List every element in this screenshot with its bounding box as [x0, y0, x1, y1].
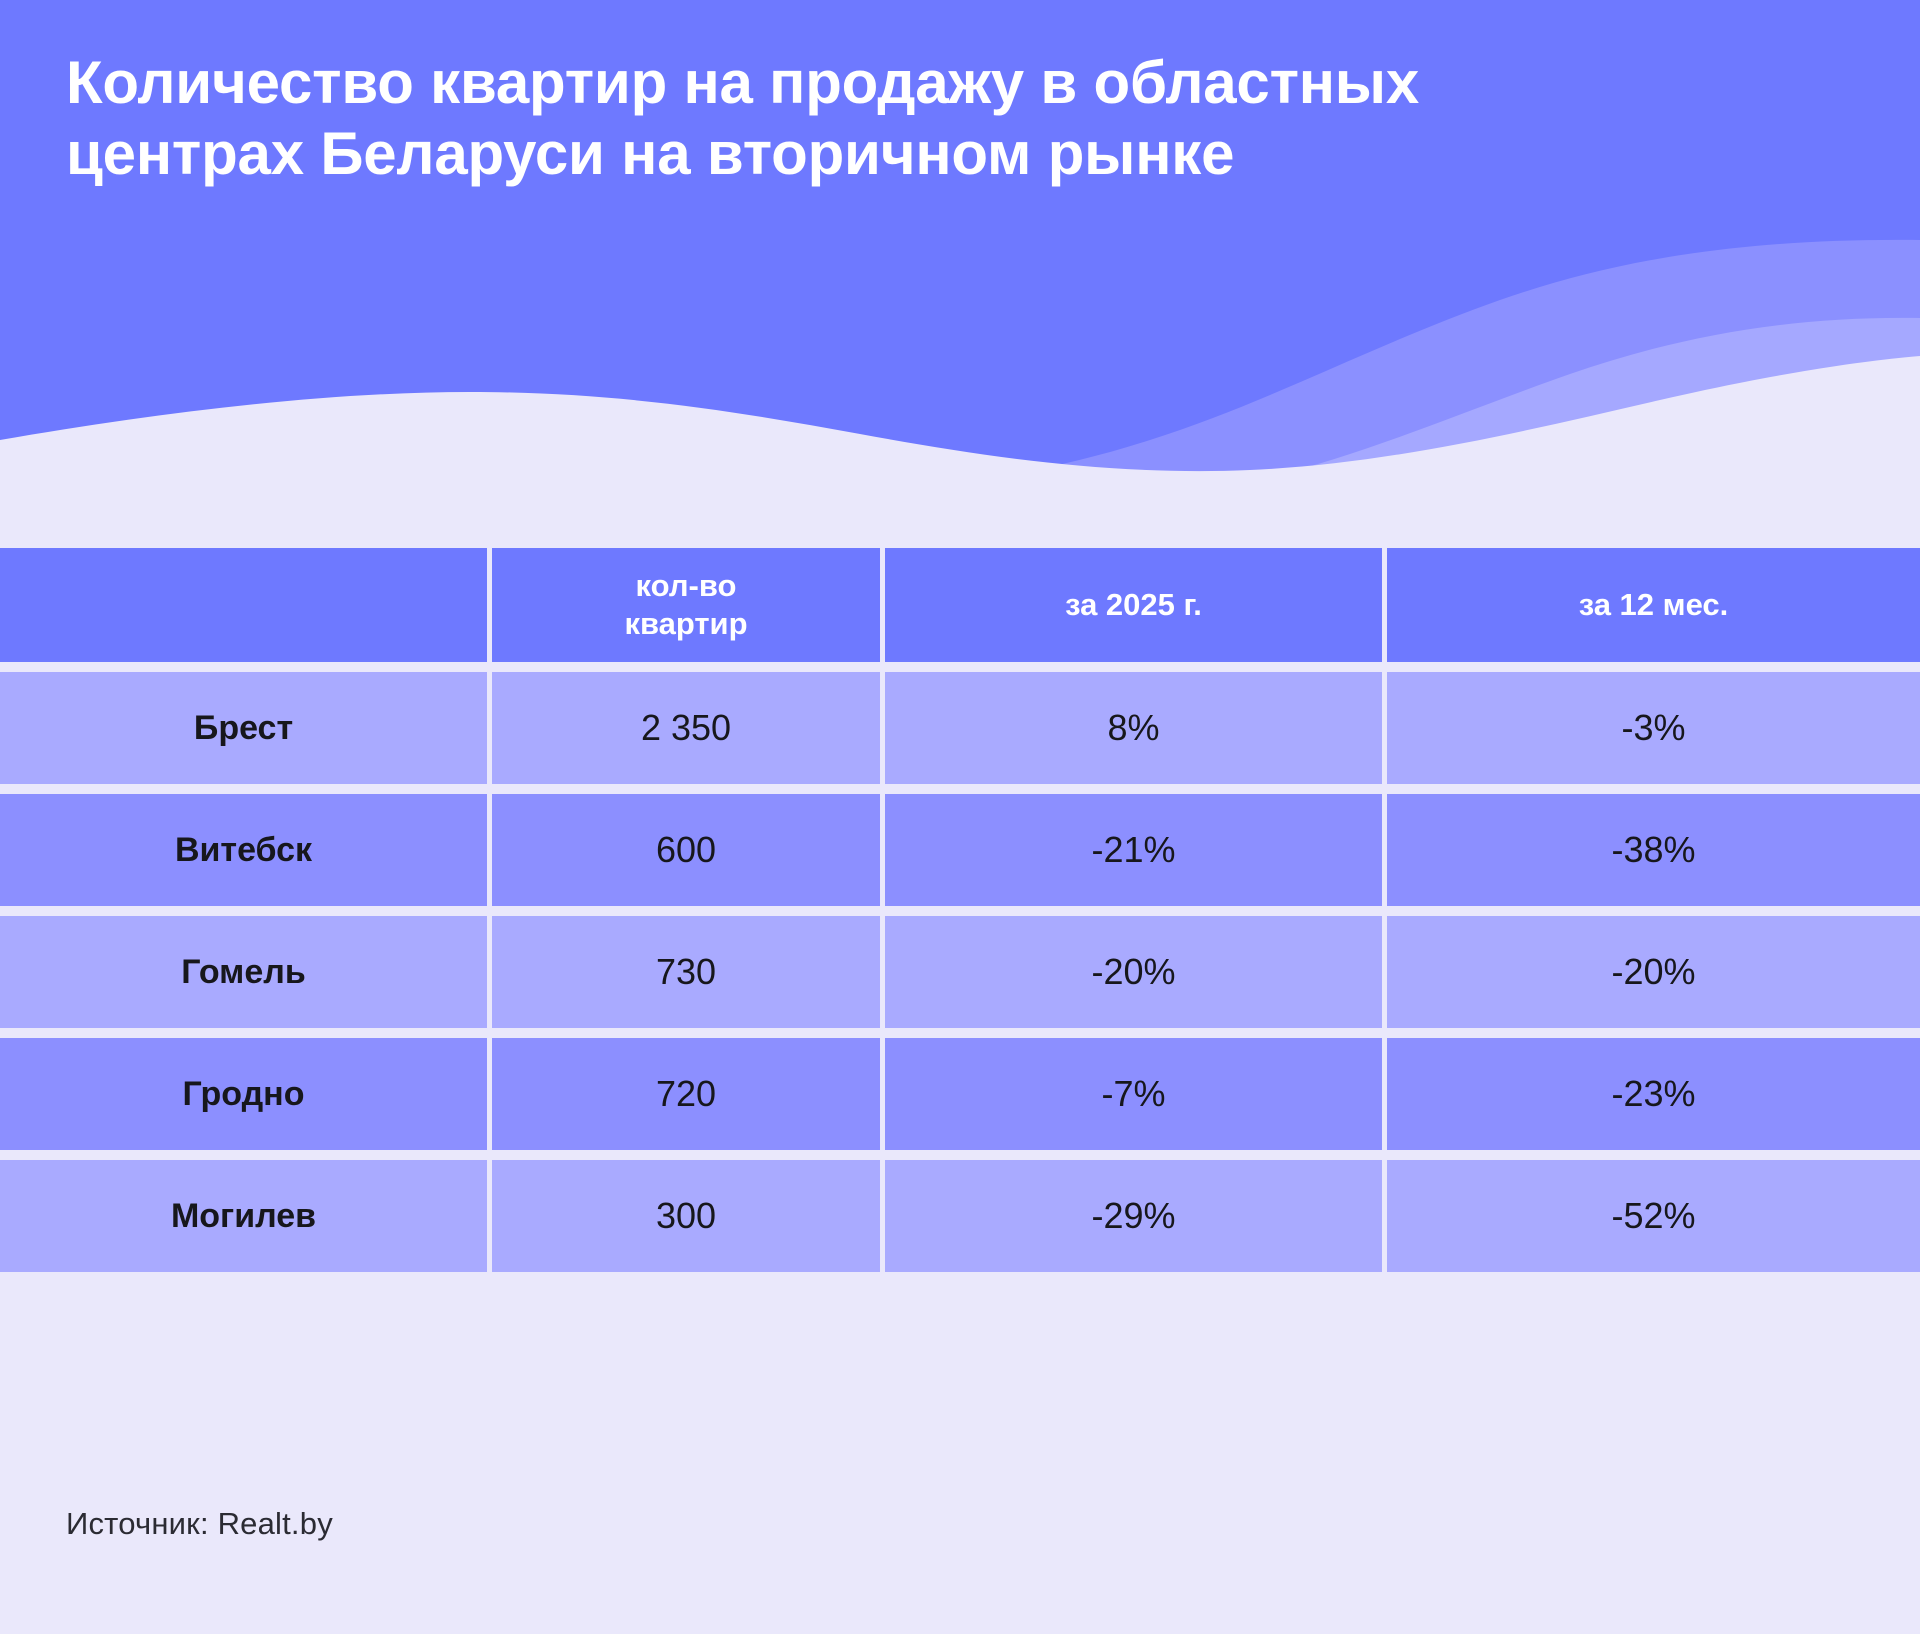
table-row: Гродно 720 -7% -23%	[0, 1038, 1920, 1150]
cell-12-months: -38%	[1382, 794, 1920, 906]
cell-year-2025: -21%	[880, 794, 1382, 906]
table-header-city	[0, 548, 487, 662]
cell-city: Витебск	[0, 794, 487, 906]
cell-count: 600	[487, 794, 880, 906]
cell-count: 300	[487, 1160, 880, 1272]
cell-city: Могилев	[0, 1160, 487, 1272]
table-header-count: кол-во квартир	[487, 548, 880, 662]
row-gap	[0, 906, 1920, 916]
cell-12-months: -23%	[1382, 1038, 1920, 1150]
table-header-row: кол-во квартир за 2025 г. за 12 мес.	[0, 548, 1920, 662]
cell-12-months: -3%	[1382, 672, 1920, 784]
data-table: кол-во квартир за 2025 г. за 12 мес. Бре…	[0, 548, 1920, 1272]
row-gap	[0, 662, 1920, 672]
table-header-12-months: за 12 мес.	[1382, 548, 1920, 662]
table-row: Могилев 300 -29% -52%	[0, 1160, 1920, 1272]
cell-year-2025: 8%	[880, 672, 1382, 784]
cell-year-2025: -7%	[880, 1038, 1382, 1150]
cell-12-months: -52%	[1382, 1160, 1920, 1272]
cell-12-months: -20%	[1382, 916, 1920, 1028]
page-title: Количество квартир на продажу в областны…	[66, 48, 1766, 190]
table-row: Витебск 600 -21% -38%	[0, 794, 1920, 906]
cell-city: Гомель	[0, 916, 487, 1028]
row-gap	[0, 1028, 1920, 1038]
cell-count: 720	[487, 1038, 880, 1150]
cell-city: Гродно	[0, 1038, 487, 1150]
infographic-root: Количество квартир на продажу в областны…	[0, 0, 1920, 1634]
cell-city: Брест	[0, 672, 487, 784]
row-gap	[0, 784, 1920, 794]
hero-banner: Количество квартир на продажу в областны…	[0, 0, 1920, 552]
cell-count: 730	[487, 916, 880, 1028]
cell-count: 2 350	[487, 672, 880, 784]
row-gap	[0, 1150, 1920, 1160]
table-header-year-2025: за 2025 г.	[880, 548, 1382, 662]
cell-year-2025: -20%	[880, 916, 1382, 1028]
cell-year-2025: -29%	[880, 1160, 1382, 1272]
table-row: Брест 2 350 8% -3%	[0, 672, 1920, 784]
table-row: Гомель 730 -20% -20%	[0, 916, 1920, 1028]
source-label: Источник: Realt.by	[66, 1506, 333, 1542]
